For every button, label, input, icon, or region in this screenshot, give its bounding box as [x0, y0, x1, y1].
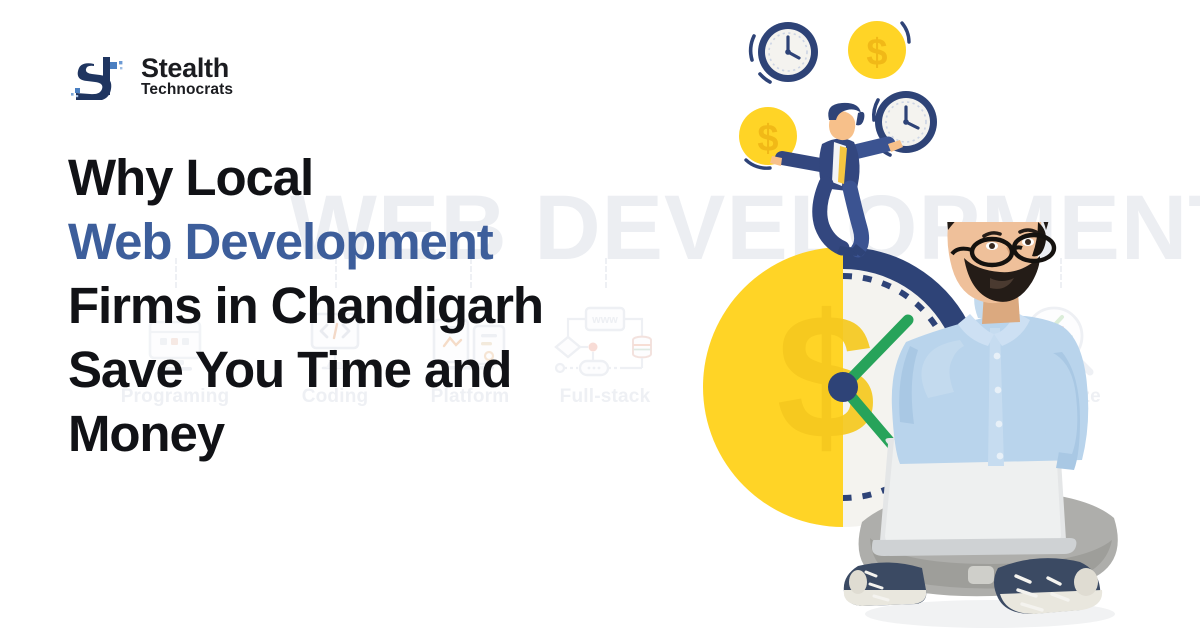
headline-line-4: Save You Time and	[68, 338, 688, 402]
headline-line-3: Firms in Chandigarh	[68, 274, 688, 338]
headline-line-2-accent: Web Development	[68, 210, 688, 274]
headline-line-1: Why Local	[68, 146, 688, 210]
banner-canvas: WEB DEVELOPMENT Programing	[0, 0, 1200, 630]
brand-logo[interactable]: Stealth Technocrats	[70, 52, 233, 100]
brand-wordmark: Stealth Technocrats	[141, 54, 233, 98]
stealth-st-monogram-icon	[70, 52, 130, 100]
brand-name-line1: Stealth	[141, 54, 233, 82]
content-layer: Stealth Technocrats Why Local Web Develo…	[0, 0, 1200, 630]
page-title: Why Local Web Development Firms in Chand…	[68, 146, 688, 466]
headline-line-5: Money	[68, 402, 688, 466]
brand-name-line2: Technocrats	[141, 82, 233, 98]
